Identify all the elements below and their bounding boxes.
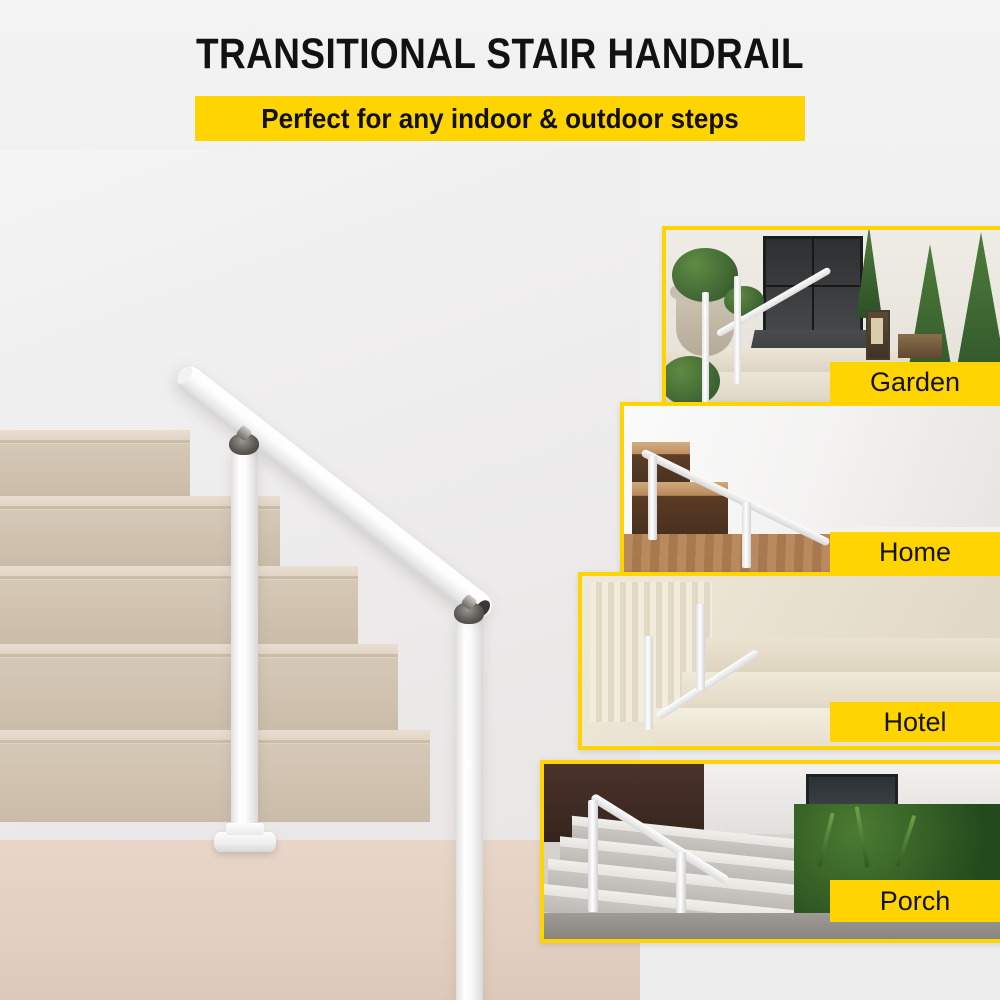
panel-label-hotel-text: Hotel	[883, 707, 946, 738]
base-plate-upper	[214, 832, 276, 852]
stair-tread-5	[0, 730, 430, 822]
panel-label-home-text: Home	[879, 537, 951, 568]
garden-lantern	[866, 310, 890, 360]
garden-hedge-left	[662, 356, 720, 406]
swivel-bracket-lower	[454, 602, 484, 624]
subtitle-banner: Perfect for any indoor & outdoor steps	[195, 96, 805, 141]
product-marketing-image: TRANSITIONAL STAIR HANDRAIL Perfect for …	[0, 0, 1000, 1000]
stair-tread-3	[0, 566, 358, 644]
panel-label-home: Home	[830, 532, 1000, 572]
page-title: TRANSITIONAL STAIR HANDRAIL	[70, 30, 930, 79]
garden-glass-door	[763, 236, 863, 338]
handrail-post-lower	[456, 618, 483, 1000]
panel-label-porch: Porch	[830, 880, 1000, 922]
handrail-post-upper	[231, 450, 258, 840]
swivel-bracket-upper	[229, 433, 259, 455]
panel-label-porch-text: Porch	[880, 886, 951, 917]
home-handrail-post-upper	[648, 456, 657, 540]
hotel-handrail-post-lower	[644, 636, 653, 730]
stair-tread-4	[0, 644, 398, 730]
porch-handrail-post-upper	[588, 800, 598, 912]
garden-side-table	[898, 334, 942, 358]
home-handrail-post-lower	[742, 502, 751, 568]
hotel-handrail-post-upper	[696, 604, 705, 690]
subtitle-text: Perfect for any indoor & outdoor steps	[216, 96, 783, 141]
garden-handrail-post-upper	[734, 276, 741, 384]
panel-label-garden-text: Garden	[870, 367, 960, 398]
panel-label-hotel: Hotel	[830, 702, 1000, 742]
garden-handrail-post-lower	[702, 292, 709, 404]
panel-label-garden: Garden	[830, 362, 1000, 402]
stair-tread-1	[0, 430, 190, 496]
